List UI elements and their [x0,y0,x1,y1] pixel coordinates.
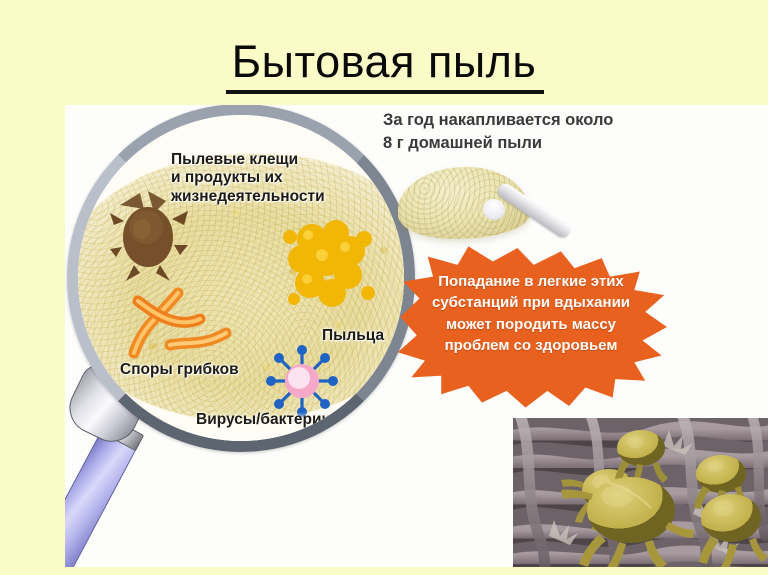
label-fungal-spores: Споры грибков [120,361,239,379]
virus-particle-icon [264,343,340,419]
page-title: Бытовая пыль [0,38,768,85]
slide-canvas: Бытовая пыль [0,0,768,575]
fungal-spores-icon [126,275,236,365]
illustration-panel: Пылевые клещи и продукты их жизнедеятель… [65,105,768,567]
annual-dust-fact-text: За год накапливается около 8 г домашней … [383,109,693,155]
label-viruses-bacteria: Вирусы/бактерии [196,411,331,429]
label-dust-mites: Пылевые клещи и продукты их жизнедеятель… [171,151,325,206]
label-pollen: Пыльца [322,327,384,345]
pollen-grains-icon [278,213,383,321]
magnifier-lens: Пылевые клещи и продукты их жизнедеятель… [78,115,404,441]
dust-mites-electron-micrograph [513,418,768,567]
title-underline [226,90,544,94]
health-warning-text: Попадание в легкие этих субстанций при в… [395,271,667,356]
micrograph-image [513,418,768,567]
